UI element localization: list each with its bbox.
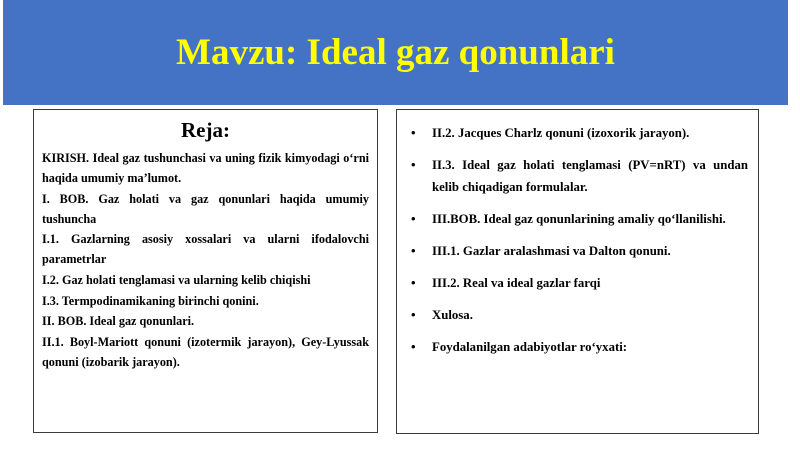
bullet-icon: • bbox=[411, 304, 416, 326]
list-item: I.2. Gaz holati tenglamasi va ularning k… bbox=[42, 271, 369, 291]
left-panel-heading: Reja: bbox=[42, 117, 369, 143]
list-item-label: III.1. Gazlar aralashmasi va Dalton qonu… bbox=[432, 244, 671, 258]
list-item-label: III.BOB. Ideal gaz qonunlarining amaliy … bbox=[432, 212, 726, 226]
left-content-panel: Reja: KIRISH. Ideal gaz tushunchasi va u… bbox=[33, 109, 378, 433]
list-item: KIRISH. Ideal gaz tushunchasi va uning f… bbox=[42, 149, 369, 189]
bullet-icon: • bbox=[411, 240, 416, 262]
list-item: • II.3. Ideal gaz holati tenglamasi (PV=… bbox=[407, 154, 748, 198]
list-item: II. BOB. Ideal gaz qonunlari. bbox=[42, 312, 369, 332]
list-item: • Foydalanilgan adabiyotlar roʻyxati: bbox=[407, 336, 748, 358]
bullet-icon: • bbox=[411, 154, 416, 176]
list-item: I.3. Termpodinamikaning birinchi qonini. bbox=[42, 292, 369, 312]
outline-list-right: • II.2. Jacques Charlz qonuni (izoxorik … bbox=[407, 122, 748, 358]
list-item: • II.2. Jacques Charlz qonuni (izoxorik … bbox=[407, 122, 748, 144]
bullet-icon: • bbox=[411, 272, 416, 294]
outline-list-left: KIRISH. Ideal gaz tushunchasi va uning f… bbox=[42, 149, 369, 372]
list-item: • III.1. Gazlar aralashmasi va Dalton qo… bbox=[407, 240, 748, 262]
bullet-icon: • bbox=[411, 122, 416, 144]
slide-canvas: Mavzu: Ideal gaz qonunlari Reja: KIRISH.… bbox=[0, 0, 800, 449]
right-content-panel: • II.2. Jacques Charlz qonuni (izoxorik … bbox=[396, 109, 759, 434]
list-item-label: Foydalanilgan adabiyotlar roʻyxati: bbox=[432, 340, 627, 354]
list-item: • III.2. Real va ideal gazlar farqi bbox=[407, 272, 748, 294]
list-item-label: Xulosa. bbox=[432, 308, 473, 322]
page-title: Mavzu: Ideal gaz qonunlari bbox=[3, 0, 788, 105]
bullet-icon: • bbox=[411, 336, 416, 358]
list-item: • Xulosa. bbox=[407, 304, 748, 326]
list-item: • III.BOB. Ideal gaz qonunlarining amali… bbox=[407, 208, 748, 230]
list-item: I. BOB. Gaz holati va gaz qonunlari haqi… bbox=[42, 190, 369, 230]
list-item-label: III.2. Real va ideal gazlar farqi bbox=[432, 276, 600, 290]
list-item: II.1. Boyl-Mariott qonuni (izotermik jar… bbox=[42, 333, 369, 373]
list-item: I.1. Gazlarning asosiy xossalari va ular… bbox=[42, 230, 369, 270]
bullet-icon: • bbox=[411, 208, 416, 230]
list-item-label: II.3. Ideal gaz holati tenglamasi (PV=nR… bbox=[432, 158, 748, 194]
list-item-label: II.2. Jacques Charlz qonuni (izoxorik ja… bbox=[432, 126, 689, 140]
